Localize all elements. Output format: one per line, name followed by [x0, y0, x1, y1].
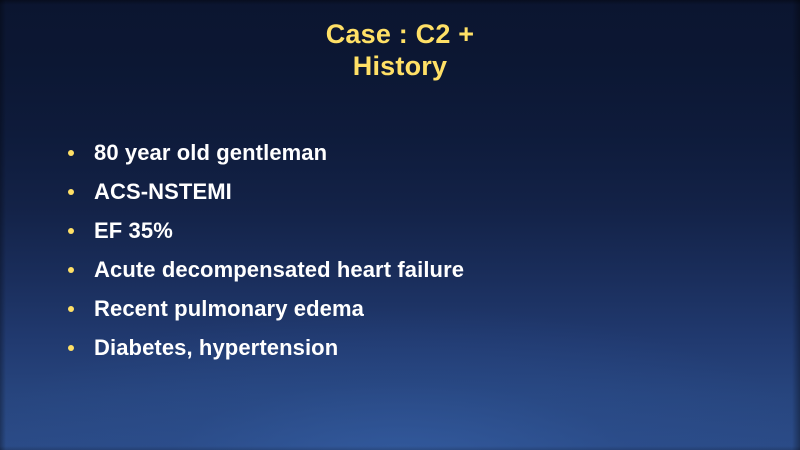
- slide-title-line-2: History: [0, 50, 800, 82]
- presentation-slide: Case : C2 + History 80 year old gentlema…: [0, 0, 800, 450]
- bullet-dot-icon: [68, 345, 74, 351]
- list-item: Diabetes, hypertension: [62, 328, 762, 367]
- list-item: EF 35%: [62, 211, 762, 250]
- list-item: ACS-NSTEMI: [62, 172, 762, 211]
- slide-title: Case : C2 + History: [0, 18, 800, 82]
- bullet-text: Acute decompensated heart failure: [94, 257, 464, 283]
- list-item: 80 year old gentleman: [62, 133, 762, 172]
- bullet-dot-icon: [68, 228, 74, 234]
- list-item: Acute decompensated heart failure: [62, 250, 762, 289]
- list-item: Recent pulmonary edema: [62, 289, 762, 328]
- bullet-text: 80 year old gentleman: [94, 140, 327, 166]
- slide-title-line-1: Case : C2 +: [0, 18, 800, 50]
- bullet-text: ACS-NSTEMI: [94, 179, 232, 205]
- bullet-list: 80 year old gentleman ACS-NSTEMI EF 35% …: [62, 133, 762, 367]
- bullet-text: Recent pulmonary edema: [94, 296, 364, 322]
- bullet-text: Diabetes, hypertension: [94, 335, 338, 361]
- bullet-dot-icon: [68, 189, 74, 195]
- bullet-text: EF 35%: [94, 218, 173, 244]
- bullet-dot-icon: [68, 306, 74, 312]
- bullet-dot-icon: [68, 150, 74, 156]
- bullet-dot-icon: [68, 267, 74, 273]
